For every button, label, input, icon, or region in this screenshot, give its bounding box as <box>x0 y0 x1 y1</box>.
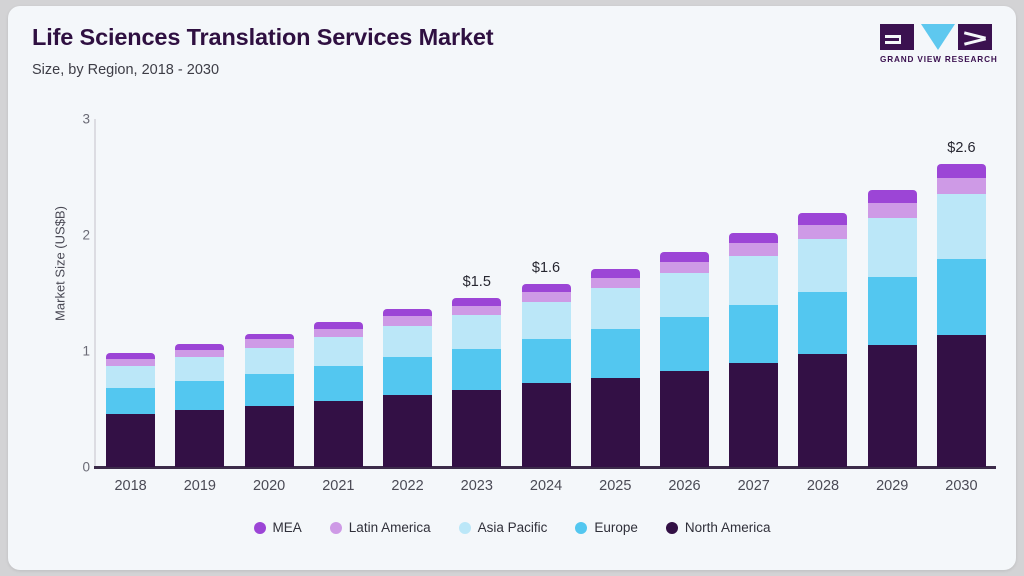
legend-label: MEA <box>273 520 302 535</box>
bar-segment-north-america-2021[interactable] <box>314 401 363 467</box>
bar-value-label-2030: $2.6 <box>947 140 975 156</box>
stacked-bar-2028[interactable] <box>798 213 847 467</box>
y-axis-tick-2: 2 <box>54 228 90 243</box>
bar-segment-north-america-2020[interactable] <box>245 406 294 467</box>
bar-segment-europe-2027[interactable] <box>729 305 778 363</box>
y-axis-tick-0: 0 <box>54 460 90 475</box>
x-axis-tick-2024: 2024 <box>511 478 580 504</box>
bar-segment-asia-pacific-2030[interactable] <box>937 194 986 259</box>
x-axis-ticks: 2018201920202021202220232024202520262027… <box>96 478 996 504</box>
stacked-bar-2022[interactable] <box>383 309 432 467</box>
x-axis-tick-2021: 2021 <box>304 478 373 504</box>
x-axis-tick-2025: 2025 <box>581 478 650 504</box>
bar-column-2023[interactable]: $1.5 <box>442 119 511 467</box>
bar-series-group: $1.5$1.6$2.6 <box>96 119 996 467</box>
x-axis-tick-2022: 2022 <box>373 478 442 504</box>
y-axis-ticks: 0123 <box>38 6 90 570</box>
bar-segment-north-america-2027[interactable] <box>729 363 778 467</box>
stacked-bar-2019[interactable] <box>175 344 224 467</box>
bar-segment-asia-pacific-2028[interactable] <box>798 239 847 292</box>
bar-column-2019[interactable] <box>165 119 234 467</box>
bar-segment-north-america-2026[interactable] <box>660 371 709 467</box>
stacked-bar-2030[interactable]: $2.6 <box>937 164 986 467</box>
y-axis-tick-1: 1 <box>54 344 90 359</box>
bar-segment-europe-2024[interactable] <box>522 339 571 383</box>
legend-item-north-america[interactable]: North America <box>666 520 771 535</box>
bar-segment-latin-america-2021[interactable] <box>314 329 363 337</box>
bar-segment-asia-pacific-2023[interactable] <box>452 315 501 349</box>
stacked-bar-2018[interactable] <box>106 353 155 467</box>
bar-segment-latin-america-2018[interactable] <box>106 359 155 366</box>
legend-swatch-icon <box>459 522 471 534</box>
bar-column-2020[interactable] <box>234 119 303 467</box>
bar-segment-mea-2026[interactable] <box>660 252 709 261</box>
bar-segment-latin-america-2025[interactable] <box>591 278 640 288</box>
bar-segment-mea-2021[interactable] <box>314 322 363 329</box>
bar-value-label-2023: $1.5 <box>463 274 491 290</box>
stacked-bar-2029[interactable] <box>868 190 917 467</box>
bar-segment-europe-2025[interactable] <box>591 329 640 378</box>
bar-segment-latin-america-2019[interactable] <box>175 350 224 357</box>
bar-segment-latin-america-2028[interactable] <box>798 225 847 239</box>
legend-swatch-icon <box>575 522 587 534</box>
bar-segment-europe-2022[interactable] <box>383 357 432 395</box>
bar-segment-mea-2029[interactable] <box>868 190 917 203</box>
x-axis-tick-2020: 2020 <box>234 478 303 504</box>
bar-segment-latin-america-2022[interactable] <box>383 316 432 325</box>
x-axis-tick-2027: 2027 <box>719 478 788 504</box>
legend-label: Latin America <box>349 520 431 535</box>
bar-segment-mea-2023[interactable] <box>452 298 501 306</box>
x-axis-tick-2026: 2026 <box>650 478 719 504</box>
bar-segment-asia-pacific-2025[interactable] <box>591 288 640 329</box>
bar-segment-north-america-2028[interactable] <box>798 354 847 467</box>
bar-segment-north-america-2018[interactable] <box>106 414 155 467</box>
bar-column-2021[interactable] <box>304 119 373 467</box>
bar-segment-latin-america-2023[interactable] <box>452 306 501 315</box>
legend-item-europe[interactable]: Europe <box>575 520 638 535</box>
bar-segment-asia-pacific-2018[interactable] <box>106 366 155 388</box>
bar-segment-asia-pacific-2027[interactable] <box>729 256 778 305</box>
bar-segment-north-america-2023[interactable] <box>452 390 501 467</box>
stacked-bar-2024[interactable]: $1.6 <box>522 284 571 467</box>
stacked-bar-2021[interactable] <box>314 322 363 467</box>
bar-segment-europe-2019[interactable] <box>175 381 224 410</box>
legend-swatch-icon <box>330 522 342 534</box>
stacked-bar-2023[interactable]: $1.5 <box>452 298 501 467</box>
bar-column-2025[interactable] <box>581 119 650 467</box>
bar-column-2024[interactable]: $1.6 <box>511 119 580 467</box>
x-axis-tick-2028: 2028 <box>788 478 857 504</box>
stacked-bar-2020[interactable] <box>245 334 294 467</box>
bar-segment-latin-america-2024[interactable] <box>522 292 571 302</box>
bar-segment-north-america-2022[interactable] <box>383 395 432 467</box>
bar-segment-mea-2028[interactable] <box>798 213 847 225</box>
bar-segment-latin-america-2027[interactable] <box>729 243 778 256</box>
legend-label: North America <box>685 520 771 535</box>
x-axis-tick-2018: 2018 <box>96 478 165 504</box>
bar-segment-europe-2029[interactable] <box>868 277 917 345</box>
bar-segment-europe-2026[interactable] <box>660 317 709 370</box>
bar-segment-asia-pacific-2019[interactable] <box>175 357 224 381</box>
stacked-bar-2026[interactable] <box>660 252 709 467</box>
x-axis-tick-2019: 2019 <box>165 478 234 504</box>
bar-segment-asia-pacific-2024[interactable] <box>522 302 571 339</box>
bar-segment-europe-2018[interactable] <box>106 388 155 414</box>
bar-segment-north-america-2024[interactable] <box>522 383 571 467</box>
bar-value-label-2024: $1.6 <box>532 260 560 276</box>
y-axis-tick-3: 3 <box>54 112 90 127</box>
bar-segment-latin-america-2020[interactable] <box>245 339 294 347</box>
x-axis-tick-2023: 2023 <box>442 478 511 504</box>
bar-segment-asia-pacific-2021[interactable] <box>314 337 363 366</box>
bar-segment-north-america-2025[interactable] <box>591 378 640 467</box>
legend-item-mea[interactable]: MEA <box>254 520 302 535</box>
bar-segment-europe-2023[interactable] <box>452 349 501 391</box>
bar-segment-mea-2025[interactable] <box>591 269 640 278</box>
stacked-bar-2025[interactable] <box>591 269 640 467</box>
bar-segment-latin-america-2030[interactable] <box>937 178 986 194</box>
bar-segment-asia-pacific-2020[interactable] <box>245 348 294 375</box>
legend-swatch-icon <box>666 522 678 534</box>
bar-segment-europe-2030[interactable] <box>937 259 986 334</box>
bar-segment-latin-america-2026[interactable] <box>660 262 709 274</box>
x-axis-tick-2030: 2030 <box>927 478 996 504</box>
bar-segment-north-america-2029[interactable] <box>868 345 917 467</box>
bar-segment-asia-pacific-2029[interactable] <box>868 218 917 277</box>
bar-segment-latin-america-2029[interactable] <box>868 203 917 218</box>
bar-segment-north-america-2030[interactable] <box>937 335 986 467</box>
bar-segment-mea-2022[interactable] <box>383 309 432 316</box>
legend-label: Asia Pacific <box>478 520 548 535</box>
bar-segment-asia-pacific-2022[interactable] <box>383 326 432 357</box>
bar-segment-north-america-2019[interactable] <box>175 410 224 467</box>
bar-column-2018[interactable] <box>96 119 165 467</box>
bar-segment-europe-2020[interactable] <box>245 374 294 405</box>
bar-column-2027[interactable] <box>719 119 788 467</box>
bar-column-2026[interactable] <box>650 119 719 467</box>
legend-swatch-icon <box>254 522 266 534</box>
bar-segment-europe-2021[interactable] <box>314 366 363 401</box>
bar-segment-asia-pacific-2026[interactable] <box>660 273 709 317</box>
chart-plot-area: Market Size (US$B) 0123 $1.5$1.6$2.6 201… <box>8 6 1016 570</box>
x-axis-tick-2029: 2029 <box>858 478 927 504</box>
bar-segment-mea-2024[interactable] <box>522 284 571 292</box>
legend-label: Europe <box>594 520 638 535</box>
bar-column-2030[interactable]: $2.6 <box>927 119 996 467</box>
legend-item-asia-pacific[interactable]: Asia Pacific <box>459 520 548 535</box>
bar-segment-europe-2028[interactable] <box>798 292 847 355</box>
stacked-bar-2027[interactable] <box>729 233 778 467</box>
bar-segment-mea-2030[interactable] <box>937 164 986 178</box>
bar-column-2029[interactable] <box>858 119 927 467</box>
legend-item-latin-america[interactable]: Latin America <box>330 520 431 535</box>
bar-segment-mea-2027[interactable] <box>729 233 778 243</box>
bar-column-2022[interactable] <box>373 119 442 467</box>
chart-legend: MEALatin AmericaAsia PacificEuropeNorth … <box>8 520 1016 535</box>
chart-card: Life Sciences Translation Services Marke… <box>8 6 1016 570</box>
bar-column-2028[interactable] <box>788 119 857 467</box>
